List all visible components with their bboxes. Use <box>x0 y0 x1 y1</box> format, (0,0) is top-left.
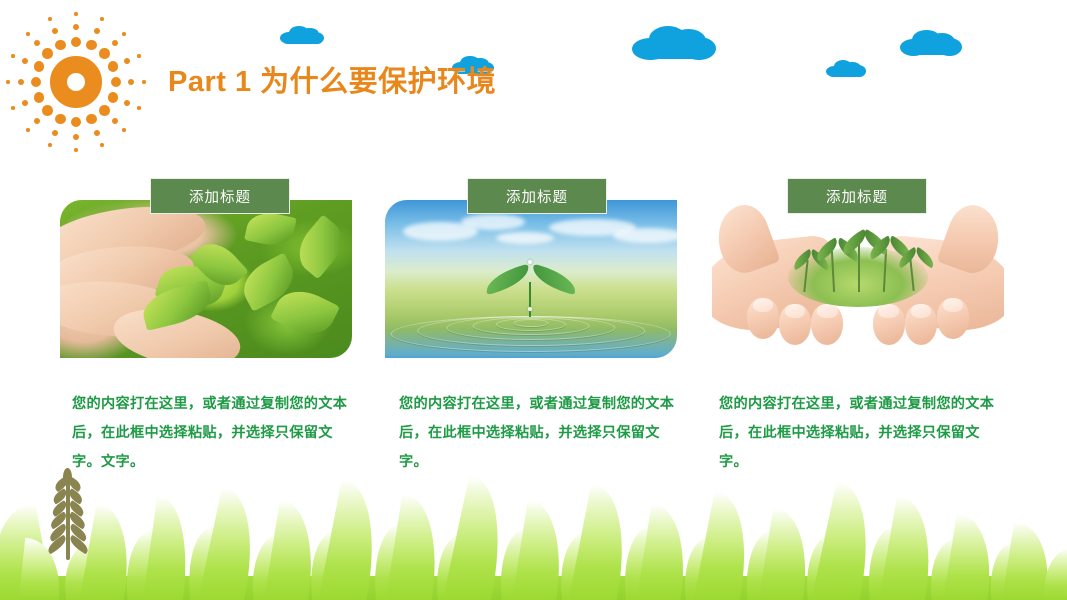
grass-blade <box>879 496 943 600</box>
wheat-seed <box>67 512 88 530</box>
sun-ray-dot <box>55 114 66 125</box>
grass-blade <box>304 530 347 600</box>
sun-ray-dot <box>122 128 126 132</box>
sun-ray-dot <box>52 28 59 35</box>
sun-ray-dot <box>52 130 59 137</box>
wheat-seed <box>53 477 70 492</box>
grass-blade <box>1039 548 1067 600</box>
sun-ray-dot <box>42 105 53 116</box>
wheat-seed <box>51 488 69 504</box>
wheat-seed <box>45 535 68 555</box>
sun-ray-dot <box>73 24 80 31</box>
grass-blade <box>264 500 324 600</box>
slide-canvas: Part 1 为什么要保护环境 添加标题 您的内容打在这里，或者通过复制您的文本… <box>0 0 1067 600</box>
sun-ray-dot <box>94 28 101 35</box>
grass-blade <box>386 494 449 600</box>
sun-ray-dot <box>34 92 45 103</box>
cloud-3-icon <box>632 26 716 60</box>
cloud-1-icon <box>280 26 324 44</box>
sun-ray-dot <box>42 48 53 59</box>
grass-decoration <box>0 460 1067 600</box>
sun-ray-dot <box>100 17 104 21</box>
sun-ray-dot <box>74 12 78 16</box>
grass-blade <box>943 514 1001 600</box>
grass-blade <box>740 530 781 600</box>
sun-ray-dot <box>99 105 110 116</box>
sun-ray-dot <box>55 40 66 51</box>
card-2-badge[interactable]: 添加标题 <box>467 178 607 214</box>
wheat-seed <box>67 523 89 542</box>
sun-ray-dot <box>124 58 131 65</box>
sun-ray-dot <box>111 77 122 88</box>
sun-ray-dot <box>18 79 25 86</box>
sun-ray-dot <box>128 79 135 86</box>
card-2-badge-label: 添加标题 <box>506 186 568 207</box>
sun-ray-dot <box>124 100 131 107</box>
card-1-body-text: 您的内容打在这里，或者通过复制您的文本后，在此框中选择粘贴，并选择只保留文字。文… <box>72 390 352 477</box>
sun-ray-dot <box>112 40 119 47</box>
grass-blade <box>800 534 842 600</box>
grass-base <box>0 576 1067 600</box>
sun-ray-dot <box>108 92 119 103</box>
grass-blade <box>554 532 596 600</box>
grass-blade <box>636 504 695 600</box>
grass-blade <box>80 504 141 600</box>
grass-blade <box>811 482 884 600</box>
cloud-4-icon <box>826 60 866 77</box>
card-1-badge-label: 添加标题 <box>189 186 251 207</box>
sun-ray-dot <box>122 32 126 36</box>
card-1-badge[interactable]: 添加标题 <box>150 178 290 214</box>
wheat-seed <box>67 477 84 492</box>
sun-ring <box>50 56 102 108</box>
sun-ray-dot <box>71 117 82 128</box>
sun-icon <box>0 8 152 156</box>
grass-blade <box>618 526 660 600</box>
wheat-seed <box>67 535 90 555</box>
grass-blade <box>678 536 720 600</box>
sun-ray-dot <box>94 130 101 137</box>
grass-blade <box>247 534 288 600</box>
card-3-image[interactable] <box>712 200 1004 358</box>
sun-ray-dot <box>108 61 119 72</box>
wheat-seed <box>48 512 69 530</box>
sun-ray-dot <box>100 143 104 147</box>
grass-blade <box>569 484 640 600</box>
grass-blade <box>19 538 66 600</box>
page-title: Part 1 为什么要保护环境 <box>168 58 496 100</box>
grass-blade <box>924 538 966 600</box>
wheat-seed <box>50 500 69 517</box>
grass-blade <box>58 542 102 600</box>
sun-ray-dot <box>26 128 30 132</box>
grass-blade <box>984 542 1023 600</box>
card-3-badge-label: 添加标题 <box>826 186 888 207</box>
grass-blade <box>430 534 472 600</box>
sun-ray-dot <box>86 114 97 125</box>
sun-ray-dot <box>34 118 41 125</box>
grass-blade <box>198 488 268 600</box>
sun-ray-dot <box>31 77 42 88</box>
wheat-seed <box>67 500 86 517</box>
grass-blade <box>143 496 198 600</box>
hands-leaves-photo <box>60 200 352 358</box>
sun-ray-dot <box>22 100 29 107</box>
card-2-image[interactable] <box>385 200 677 358</box>
card-1-image[interactable] <box>60 200 352 358</box>
sun-ray-dot <box>34 40 41 47</box>
sun-ray-dot <box>22 58 29 65</box>
grass-blade <box>862 526 904 600</box>
wheat-seed <box>63 468 72 486</box>
grass-blade <box>694 492 761 600</box>
wheat-seed <box>67 488 85 504</box>
sun-ray-dot <box>6 80 10 84</box>
wheat-seed <box>47 523 69 542</box>
sun-ray-dot <box>74 148 78 152</box>
sun-ray-dot <box>86 40 97 51</box>
hands-island-photo <box>712 200 1004 358</box>
sun-ray-dot <box>137 106 141 110</box>
sun-ray-dot <box>34 61 45 72</box>
sun-ray-dot <box>71 37 82 48</box>
sprout-water-photo <box>385 200 677 358</box>
grass-blade <box>368 524 410 600</box>
sun-ray-dot <box>48 17 52 21</box>
wheat-stalk-icon <box>48 468 88 560</box>
sun-ray-dot <box>26 32 30 36</box>
card-3-body-text: 您的内容打在这里，或者通过复制您的文本后，在此框中选择粘贴，并选择只保留文字。 <box>719 390 999 477</box>
grass-blade <box>181 526 224 600</box>
grass-blade <box>759 508 818 600</box>
sun-ray-dot <box>48 143 52 147</box>
sun-ray-dot <box>73 134 80 141</box>
card-3-badge[interactable]: 添加标题 <box>787 178 927 214</box>
grass-blade <box>318 480 389 600</box>
grass-blade <box>1002 522 1058 600</box>
grass-blade <box>120 530 161 600</box>
sun-ray-dot <box>11 54 15 58</box>
cloud-5-icon <box>900 30 962 56</box>
grass-blade <box>512 500 572 600</box>
wheat-stem <box>66 474 70 560</box>
sun-ray-dot <box>11 106 15 110</box>
grass-blade <box>494 528 536 600</box>
sun-ray-dot <box>112 118 119 125</box>
sun-ray-dot <box>99 48 110 59</box>
card-2-body-text: 您的内容打在这里，或者通过复制您的文本后，在此框中选择粘贴，并选择只保留文字。 <box>399 390 679 477</box>
grass-blade <box>0 504 52 600</box>
sun-ray-dot <box>137 54 141 58</box>
grass-blade <box>443 476 517 600</box>
sun-ray-dot <box>142 80 146 84</box>
